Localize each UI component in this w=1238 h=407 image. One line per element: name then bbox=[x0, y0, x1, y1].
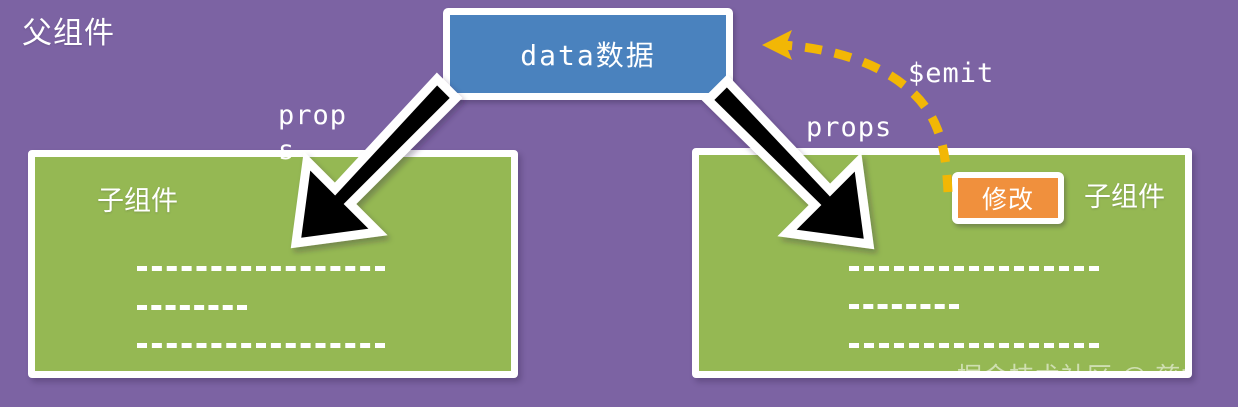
child-component-label-right: 子组件 bbox=[1084, 181, 1165, 213]
data-box: data数据 bbox=[443, 8, 733, 100]
child-component-box-right: 子组件 掘金技术社区 @ 慈樣ya bbox=[692, 148, 1192, 378]
parent-component-title: 父组件 bbox=[22, 16, 115, 52]
content-rule bbox=[137, 266, 385, 271]
emit-label: $emit bbox=[908, 56, 994, 91]
data-box-label: data数据 bbox=[520, 34, 655, 74]
content-rule bbox=[849, 343, 1099, 348]
watermark: 掘金技术社区 @ 慈樣ya bbox=[957, 362, 1192, 378]
content-rule bbox=[849, 304, 959, 309]
content-rule bbox=[137, 305, 247, 310]
diagram-canvas: 父组件 data数据 子组件 子组件 掘金技术社区 @ 慈樣ya 修改 prop… bbox=[0, 0, 1238, 407]
child-component-box-left: 子组件 bbox=[28, 150, 518, 378]
modify-chip: 修改 bbox=[952, 172, 1064, 224]
props-label-left: props bbox=[278, 98, 350, 168]
modify-chip-label: 修改 bbox=[982, 180, 1034, 216]
props-label-right: props bbox=[806, 110, 892, 145]
content-rule bbox=[849, 266, 1099, 271]
child-component-label-left: 子组件 bbox=[97, 185, 178, 217]
content-rule bbox=[137, 343, 385, 348]
